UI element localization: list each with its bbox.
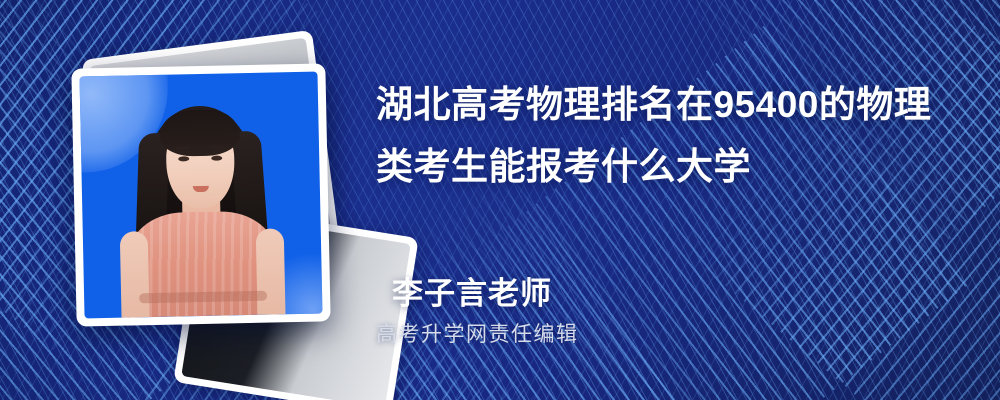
portrait-figure — [105, 86, 298, 318]
photo-card-main — [71, 63, 330, 326]
portrait-hair-fringe — [159, 109, 240, 157]
portrait-arm-left — [120, 231, 150, 318]
portrait-arm-right — [256, 228, 286, 315]
poster-banner: 湖北高考物理排名在95400的物理类考生能报考什么大学 李子言老师 高考升学网责… — [0, 0, 1000, 400]
poster-title: 湖北高考物理排名在95400的物理类考生能报考什么大学 — [376, 74, 946, 198]
portrait-photo — [79, 72, 322, 319]
photo-stack — [56, 50, 356, 350]
author-name: 李子言老师 — [392, 268, 552, 313]
author-role: 高考升学网责任编辑 — [376, 318, 579, 348]
poster-text-block: 湖北高考物理排名在95400的物理类考生能报考什么大学 李子言老师 高考升学网责… — [376, 0, 976, 400]
